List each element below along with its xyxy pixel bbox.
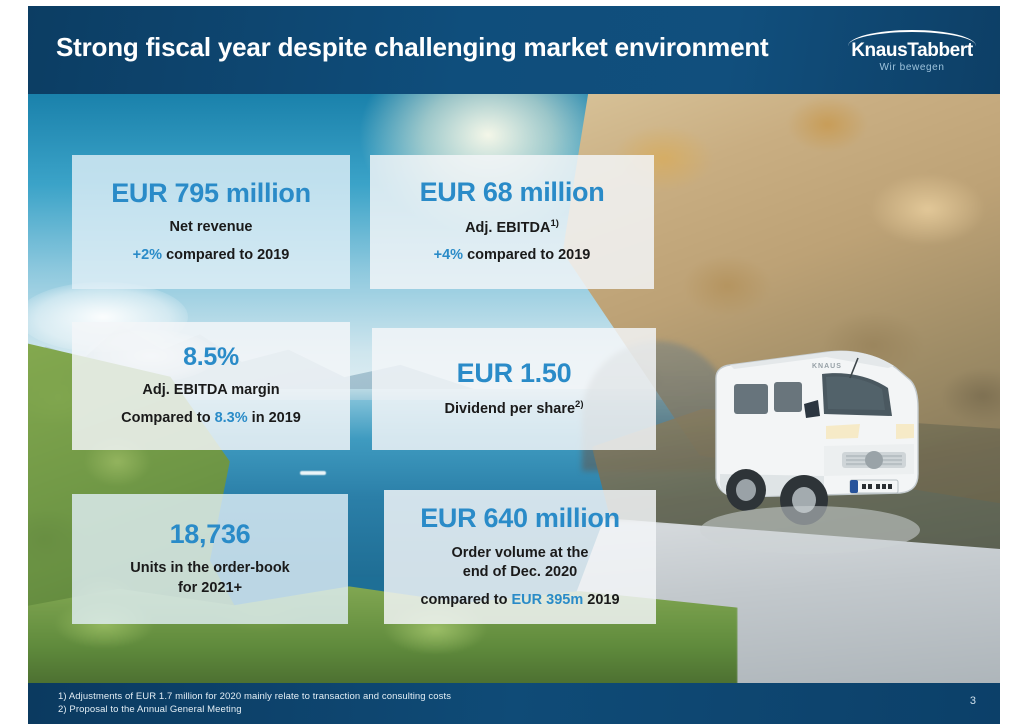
stat-card-adj-ebitda: EUR 68 million Adj. EBITDA1) +4% compare… bbox=[370, 155, 654, 289]
stat-label-line1: Order volume at the bbox=[452, 545, 589, 561]
stat-card-net-revenue: EUR 795 million Net revenue +2% compared… bbox=[72, 155, 350, 289]
stat-value: 18,736 bbox=[170, 520, 251, 550]
stat-comparison-prefix: Compared to bbox=[121, 410, 214, 426]
stat-boxes: EUR 795 million Net revenue +2% compared… bbox=[0, 0, 1024, 724]
stat-value: EUR 1.50 bbox=[457, 359, 572, 389]
stat-comparison: compared to EUR 395m 2019 bbox=[420, 591, 619, 611]
stat-comparison-rest: compared to 2019 bbox=[463, 247, 590, 263]
stat-comparison: +2% compared to 2019 bbox=[133, 246, 290, 266]
stat-label: Adj. EBITDA margin bbox=[142, 381, 279, 401]
stat-comparison-accent: 8.3% bbox=[215, 410, 248, 426]
stat-comparison-prefix: compared to bbox=[420, 592, 511, 608]
stat-label-line2: end of Dec. 2020 bbox=[463, 564, 577, 580]
stat-value: 8.5% bbox=[183, 344, 239, 372]
presentation-slide: Strong fiscal year despite challenging m… bbox=[0, 0, 1024, 724]
stat-comparison-rest: compared to 2019 bbox=[162, 247, 289, 263]
stat-label-line1: Units in the order-book bbox=[130, 560, 290, 576]
stat-value: EUR 640 million bbox=[420, 504, 620, 534]
stat-comparison-rest: in 2019 bbox=[248, 410, 301, 426]
stat-label-line2: for 2021+ bbox=[178, 580, 242, 596]
footnote-1: 1) Adjustments of EUR 1.7 million for 20… bbox=[58, 691, 451, 702]
stat-label-text: Adj. EBITDA bbox=[465, 220, 550, 236]
stat-comparison-accent: EUR 395m bbox=[512, 592, 584, 608]
stat-comparison-accent: +2% bbox=[133, 247, 162, 263]
stat-card-dividend: EUR 1.50 Dividend per share2) bbox=[372, 328, 656, 450]
page-number: 3 bbox=[970, 695, 976, 707]
stat-label: Order volume at the end of Dec. 2020 bbox=[452, 544, 589, 583]
stat-card-order-book: 18,736 Units in the order-book for 2021+ bbox=[72, 494, 348, 624]
footnote-marker: 2) bbox=[575, 399, 583, 410]
stat-comparison: +4% compared to 2019 bbox=[434, 246, 591, 266]
stat-comparison: Compared to 8.3% in 2019 bbox=[121, 409, 301, 429]
stat-card-order-volume: EUR 640 million Order volume at the end … bbox=[384, 490, 656, 624]
stat-comparison-rest: 2019 bbox=[583, 592, 619, 608]
stat-label: Units in the order-book for 2021+ bbox=[130, 559, 290, 598]
footnote-2: 2) Proposal to the Annual General Meetin… bbox=[58, 704, 242, 715]
stat-label: Dividend per share2) bbox=[445, 399, 584, 419]
stat-label: Adj. EBITDA1) bbox=[465, 218, 559, 238]
stat-comparison-accent: +4% bbox=[434, 247, 463, 263]
slide-footer: 1) Adjustments of EUR 1.7 million for 20… bbox=[28, 683, 1000, 724]
stat-value: EUR 795 million bbox=[111, 179, 311, 209]
stat-value: EUR 68 million bbox=[420, 178, 605, 208]
footnote-marker: 1) bbox=[550, 218, 558, 229]
stat-label: Net revenue bbox=[169, 218, 252, 238]
stat-label-text: Dividend per share bbox=[445, 400, 576, 416]
stat-card-ebitda-margin: 8.5% Adj. EBITDA margin Compared to 8.3%… bbox=[72, 322, 350, 450]
